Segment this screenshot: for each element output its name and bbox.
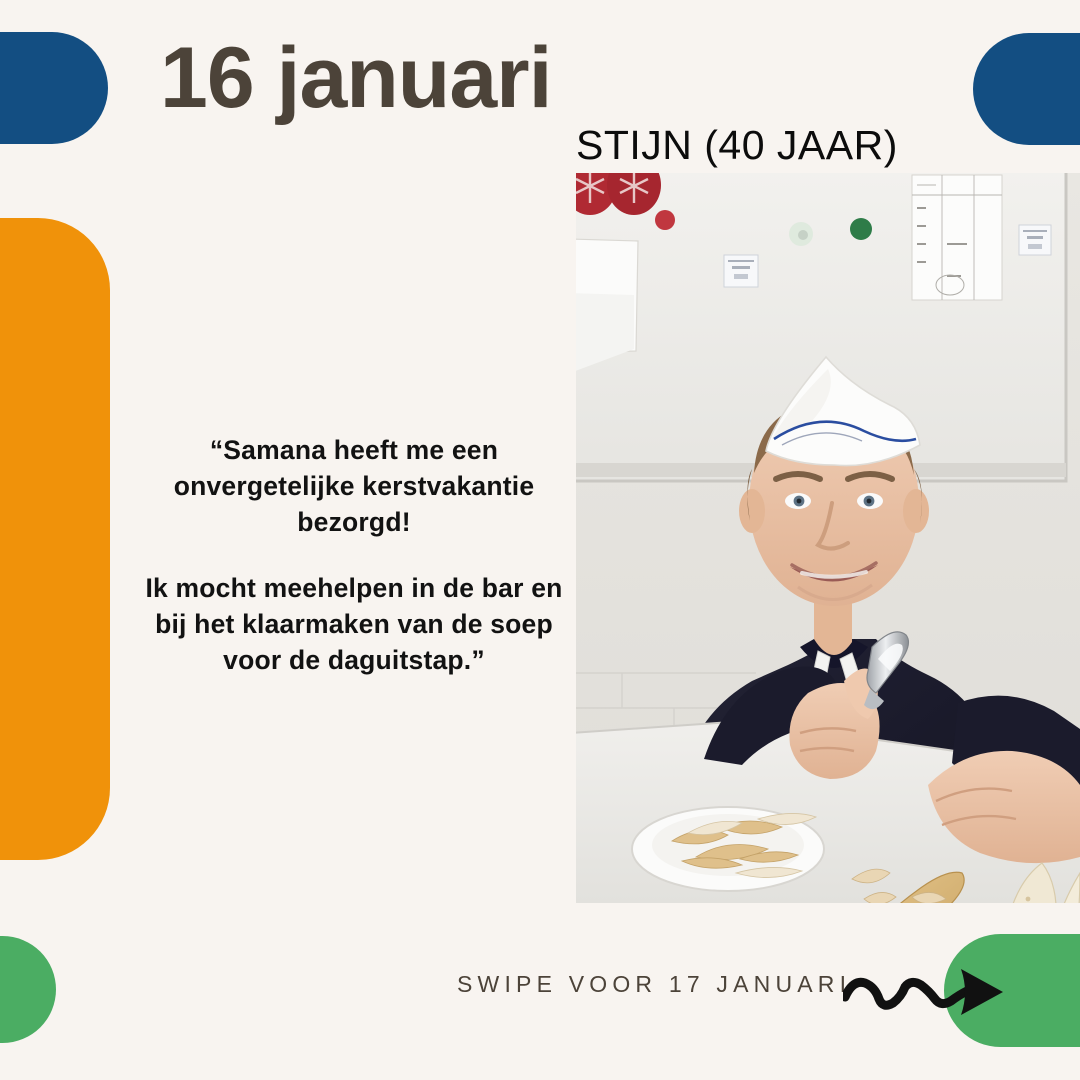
page-title: 16 januari [160, 33, 552, 123]
person-name-label: STIJN (40 JAAR) [576, 122, 898, 169]
orange-pill-left-shape [0, 218, 110, 860]
blue-pill-top-right-shape [973, 33, 1080, 145]
quote-paragraph-1: “Samana heeft me een onvergetelijke kers… [128, 432, 580, 540]
plate-of-peelings [632, 807, 824, 891]
green-pill-bottom-left-shape [0, 936, 56, 1043]
quote-spacer [128, 540, 580, 570]
blue-pill-top-left-shape [0, 32, 108, 144]
testimonial-quote: “Samana heeft me een onvergetelijke kers… [128, 432, 580, 678]
quote-paragraph-2: Ik mocht meehelpen in de bar en bij het … [128, 570, 580, 678]
testimonial-photo: samana samana [576, 173, 1080, 903]
squiggly-arrow-right-icon [843, 953, 1015, 1019]
green-magnet [850, 218, 872, 240]
post-canvas: 16 januari STIJN (40 JAAR) [0, 0, 1080, 1080]
swipe-label: SWIPE VOOR 17 JANUARI [457, 971, 851, 998]
photo-illustration: samana samana [576, 173, 1080, 903]
